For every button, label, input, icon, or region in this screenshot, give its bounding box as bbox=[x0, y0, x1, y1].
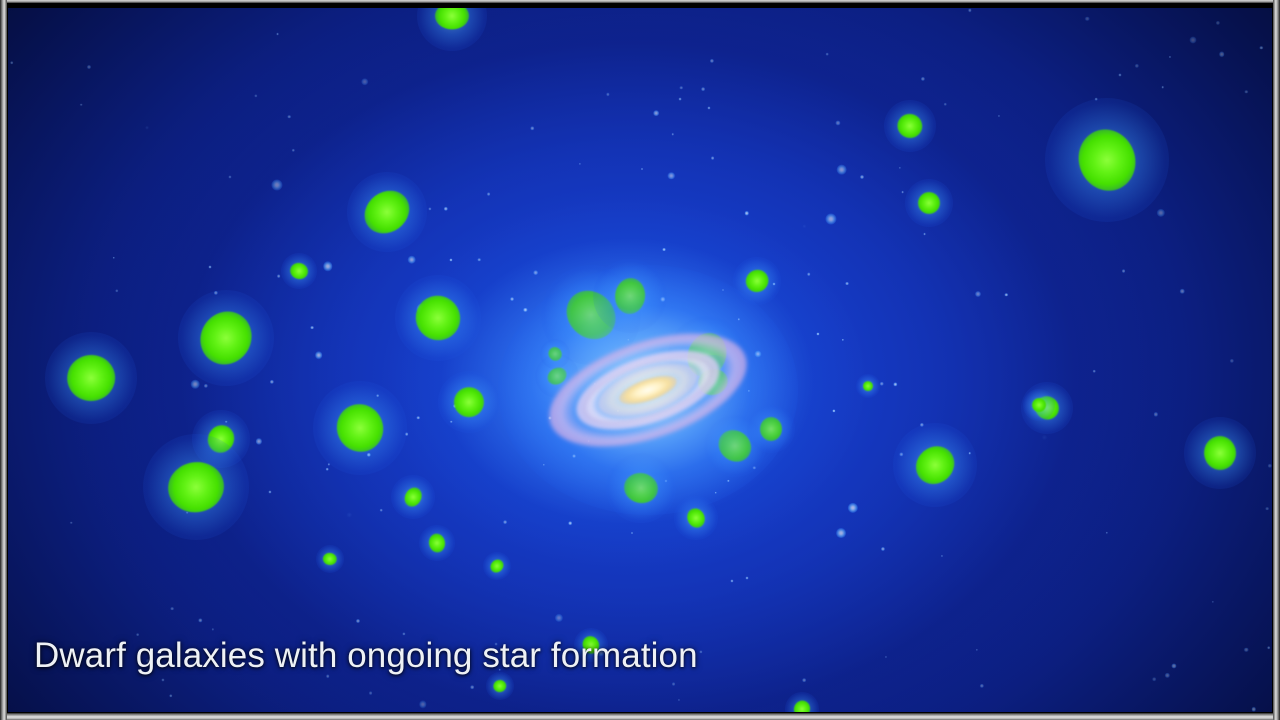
star bbox=[356, 619, 360, 623]
star bbox=[807, 272, 811, 276]
dwarf-galaxy bbox=[747, 405, 795, 453]
galaxy-halo-glow bbox=[498, 265, 798, 515]
star bbox=[380, 509, 383, 512]
star bbox=[1230, 358, 1234, 362]
star bbox=[225, 420, 228, 423]
star bbox=[627, 338, 629, 340]
star bbox=[450, 259, 453, 262]
dwarf-galaxy-halo bbox=[316, 545, 344, 573]
dwarf-galaxy-halo bbox=[483, 552, 511, 580]
dwarf-galaxy bbox=[1045, 98, 1169, 222]
star bbox=[186, 511, 189, 514]
star bbox=[199, 619, 202, 622]
dwarf-galaxy bbox=[316, 545, 344, 573]
dwarf-galaxy bbox=[884, 100, 936, 152]
star bbox=[968, 9, 971, 12]
star bbox=[1180, 289, 1185, 294]
star bbox=[653, 110, 659, 116]
star bbox=[1265, 507, 1269, 511]
dwarf-galaxy-halo bbox=[893, 423, 977, 507]
star bbox=[162, 678, 165, 681]
star bbox=[714, 491, 717, 494]
star bbox=[678, 97, 681, 100]
star bbox=[660, 297, 665, 302]
dwarf-galaxy-halo bbox=[785, 692, 819, 712]
dwarf-galaxy bbox=[45, 332, 137, 424]
star bbox=[271, 179, 282, 190]
dwarf-galaxy-core bbox=[1070, 121, 1145, 199]
star bbox=[209, 266, 212, 269]
star bbox=[366, 452, 370, 456]
galaxy-dust-lane bbox=[575, 342, 721, 437]
star bbox=[968, 452, 971, 455]
star bbox=[270, 380, 274, 384]
star bbox=[816, 332, 819, 335]
star bbox=[478, 258, 482, 262]
star bbox=[1044, 400, 1048, 404]
star bbox=[1005, 293, 1008, 296]
dwarf-galaxy bbox=[419, 525, 455, 561]
star bbox=[1153, 412, 1157, 416]
star bbox=[641, 168, 643, 170]
star bbox=[920, 423, 924, 427]
star bbox=[899, 166, 901, 168]
dwarf-galaxy-core bbox=[908, 438, 962, 492]
dwarf-galaxy-core bbox=[915, 189, 943, 217]
dwarf-galaxy-halo bbox=[606, 453, 676, 523]
star bbox=[1169, 56, 1171, 58]
star bbox=[1153, 677, 1157, 681]
star bbox=[1216, 21, 1220, 25]
dwarf-galaxy bbox=[668, 316, 746, 394]
dwarf-galaxy-core bbox=[407, 287, 470, 350]
frame-border-right bbox=[1273, 0, 1280, 720]
dwarf-galaxy-halo bbox=[486, 672, 514, 700]
star bbox=[884, 655, 886, 657]
dwarf-galaxy bbox=[1021, 382, 1073, 434]
dwarf-galaxy bbox=[395, 275, 481, 361]
dwarf-galaxy-halo bbox=[856, 374, 880, 398]
star bbox=[572, 454, 576, 458]
star bbox=[842, 339, 844, 341]
star bbox=[881, 547, 885, 551]
star bbox=[667, 172, 674, 179]
star bbox=[170, 607, 174, 611]
star bbox=[900, 453, 903, 456]
star bbox=[832, 409, 835, 412]
dwarf-galaxy-core bbox=[492, 679, 507, 694]
star bbox=[277, 274, 281, 278]
star bbox=[1161, 86, 1164, 89]
star bbox=[531, 126, 534, 129]
sky-noise-texture bbox=[8, 8, 1272, 712]
star bbox=[1118, 73, 1121, 76]
dwarf-galaxy-halo bbox=[733, 257, 781, 305]
star bbox=[579, 163, 581, 165]
star bbox=[1211, 601, 1213, 603]
star bbox=[835, 121, 840, 126]
dwarf-galaxy-halo bbox=[347, 172, 427, 252]
star bbox=[941, 555, 943, 557]
dwarf-galaxy-core bbox=[1029, 395, 1049, 415]
star bbox=[701, 87, 705, 91]
dwarf-galaxy-halo bbox=[905, 179, 953, 227]
dwarf-galaxy-halo bbox=[313, 381, 407, 475]
star bbox=[1157, 209, 1165, 217]
dwarf-galaxy bbox=[438, 371, 500, 433]
dwarf-galaxy-halo bbox=[668, 316, 746, 394]
dwarf-galaxy-core bbox=[1203, 435, 1237, 471]
star bbox=[879, 382, 884, 387]
star bbox=[113, 257, 116, 260]
star bbox=[848, 502, 858, 512]
star bbox=[710, 59, 714, 63]
star bbox=[453, 404, 457, 408]
star bbox=[419, 701, 426, 708]
dwarf-galaxy-halo bbox=[884, 100, 936, 152]
star bbox=[487, 192, 491, 196]
star bbox=[465, 394, 469, 398]
star bbox=[700, 650, 703, 653]
star bbox=[860, 175, 864, 179]
star bbox=[921, 77, 925, 81]
dwarf-galaxy-halo bbox=[45, 332, 137, 424]
dwarf-galaxy-halo bbox=[178, 290, 274, 386]
dwarf-galaxy-core bbox=[621, 470, 660, 506]
dwarf-galaxy-halo bbox=[1045, 98, 1169, 222]
star bbox=[998, 115, 1000, 117]
star bbox=[836, 528, 846, 538]
star bbox=[416, 416, 420, 420]
star bbox=[1165, 673, 1169, 677]
dwarf-galaxy-halo bbox=[540, 339, 570, 369]
dwarf-galaxy bbox=[606, 453, 676, 523]
star bbox=[255, 94, 258, 97]
star bbox=[616, 410, 619, 413]
star bbox=[641, 360, 644, 363]
dwarf-galaxy-halo bbox=[535, 354, 579, 398]
galaxy-mid-arm bbox=[566, 334, 729, 445]
star bbox=[555, 614, 563, 622]
dwarf-galaxy-core bbox=[695, 366, 731, 399]
star bbox=[710, 379, 712, 381]
star bbox=[753, 466, 756, 469]
dwarf-galaxy bbox=[192, 410, 250, 468]
dwarf-galaxy-core bbox=[488, 557, 506, 575]
star bbox=[944, 103, 947, 106]
star bbox=[10, 61, 14, 65]
star bbox=[1135, 64, 1139, 68]
dwarf-galaxy bbox=[313, 381, 407, 475]
dwarf-galaxy-core bbox=[1031, 392, 1064, 425]
star bbox=[70, 522, 73, 525]
dwarf-galaxy-core bbox=[863, 381, 873, 391]
dwarf-galaxy-core bbox=[288, 261, 310, 281]
dwarf-galaxy-halo bbox=[417, 8, 487, 51]
dwarf-galaxy-core bbox=[428, 532, 447, 553]
star bbox=[310, 326, 314, 330]
star bbox=[169, 694, 172, 697]
dwarf-galaxy-core bbox=[546, 344, 565, 363]
star bbox=[470, 685, 474, 689]
star bbox=[662, 248, 666, 252]
dwarf-galaxy bbox=[704, 415, 766, 477]
dwarf-galaxy bbox=[347, 172, 427, 252]
star bbox=[115, 289, 118, 292]
star bbox=[323, 261, 332, 270]
dwarf-galaxy-core bbox=[557, 281, 626, 350]
star bbox=[727, 479, 729, 481]
dwarf-galaxy-halo bbox=[395, 275, 481, 361]
star bbox=[315, 351, 323, 359]
star bbox=[826, 53, 829, 56]
star bbox=[770, 426, 775, 431]
star bbox=[722, 289, 724, 291]
star bbox=[542, 464, 544, 466]
star bbox=[80, 104, 83, 107]
dwarf-galaxy bbox=[535, 354, 579, 398]
star bbox=[444, 207, 448, 211]
dwarf-galaxy-halo bbox=[674, 496, 718, 540]
star bbox=[975, 291, 981, 297]
dwarf-galaxy-core bbox=[401, 484, 425, 509]
dwarf-galaxy bbox=[417, 8, 487, 51]
star bbox=[678, 699, 680, 701]
star bbox=[680, 86, 684, 90]
star bbox=[1172, 663, 1177, 668]
dwarf-galaxy bbox=[1184, 417, 1256, 489]
star bbox=[1190, 36, 1197, 43]
star bbox=[730, 579, 733, 582]
star bbox=[1244, 648, 1249, 653]
dwarf-galaxy-halo bbox=[1021, 382, 1073, 434]
dwarf-galaxy bbox=[486, 672, 514, 700]
dwarf-galaxy-halo bbox=[391, 475, 435, 519]
star bbox=[708, 106, 711, 109]
star bbox=[87, 65, 91, 69]
star bbox=[803, 678, 807, 682]
star bbox=[1106, 532, 1108, 534]
dwarf-galaxy-halo bbox=[1023, 389, 1055, 421]
star bbox=[631, 532, 633, 534]
star bbox=[1259, 46, 1262, 49]
dwarf-galaxy-core bbox=[203, 421, 239, 458]
dwarf-galaxy bbox=[905, 179, 953, 227]
dwarf-galaxy-core bbox=[190, 302, 261, 374]
star bbox=[292, 149, 294, 151]
star bbox=[256, 438, 262, 444]
star bbox=[1085, 16, 1090, 21]
star bbox=[894, 383, 897, 386]
dwarf-galaxy-core bbox=[544, 364, 569, 388]
star bbox=[229, 175, 232, 178]
star bbox=[376, 394, 380, 398]
star bbox=[672, 682, 676, 686]
star bbox=[276, 33, 279, 36]
dwarf-galaxy bbox=[281, 253, 317, 289]
dwarf-galaxy-core bbox=[451, 385, 486, 420]
star bbox=[738, 318, 740, 320]
star bbox=[836, 164, 847, 175]
dwarf-galaxy-core bbox=[895, 111, 926, 141]
star bbox=[212, 628, 214, 630]
dwarf-galaxy-halo bbox=[593, 259, 667, 333]
star bbox=[214, 290, 218, 294]
dwarf-galaxy bbox=[391, 475, 435, 519]
star bbox=[773, 283, 776, 286]
star bbox=[417, 303, 428, 314]
star bbox=[748, 390, 750, 392]
star bbox=[510, 297, 514, 301]
frame-border-top bbox=[0, 0, 1280, 3]
frame-border-left bbox=[0, 0, 7, 720]
star bbox=[326, 675, 330, 679]
dwarf-galaxy-halo bbox=[686, 355, 740, 409]
star bbox=[975, 649, 977, 651]
star bbox=[711, 156, 715, 160]
star bbox=[744, 211, 749, 216]
star bbox=[204, 384, 208, 388]
dwarf-galaxy-core bbox=[684, 505, 708, 530]
dwarf-galaxy-core bbox=[713, 424, 758, 468]
star bbox=[1095, 98, 1098, 101]
star bbox=[569, 522, 573, 526]
dwarf-galaxy-halo bbox=[1184, 417, 1256, 489]
star bbox=[980, 683, 984, 687]
frame-border-bottom bbox=[0, 713, 1280, 720]
dwarf-galaxy-halo bbox=[143, 434, 249, 540]
dwarf-galaxy-core bbox=[760, 417, 782, 441]
galaxy-inner-arm bbox=[592, 352, 705, 427]
dwarf-galaxy-halo bbox=[281, 253, 317, 289]
star bbox=[403, 632, 406, 635]
dwarf-galaxy bbox=[686, 355, 740, 409]
dwarf-galaxy-core bbox=[164, 457, 228, 516]
galaxy-core-bulge bbox=[616, 370, 680, 410]
star bbox=[671, 133, 674, 136]
dwarf-galaxy-core bbox=[613, 277, 647, 316]
star bbox=[287, 115, 291, 119]
star bbox=[593, 382, 596, 385]
star bbox=[825, 213, 836, 224]
star bbox=[326, 468, 329, 471]
star bbox=[548, 416, 552, 420]
star bbox=[407, 255, 416, 264]
dwarf-galaxy bbox=[893, 423, 977, 507]
dwarf-galaxy-core bbox=[791, 698, 812, 712]
star bbox=[369, 691, 373, 695]
dwarf-galaxy bbox=[483, 552, 511, 580]
star bbox=[1093, 370, 1096, 373]
star bbox=[268, 490, 271, 493]
star bbox=[1268, 464, 1272, 468]
star bbox=[636, 483, 642, 489]
dwarf-galaxy-halo bbox=[541, 265, 641, 365]
star bbox=[746, 577, 749, 580]
dwarf-galaxy-halo bbox=[704, 415, 766, 477]
star bbox=[361, 78, 369, 86]
galaxy-outer-arm bbox=[535, 311, 761, 469]
dwarf-galaxy-core bbox=[356, 182, 417, 242]
star bbox=[901, 191, 904, 194]
star bbox=[1251, 707, 1256, 712]
image-frame: Dwarf galaxies with ongoing star formati… bbox=[0, 0, 1280, 720]
star bbox=[931, 458, 936, 463]
star bbox=[533, 270, 539, 276]
star bbox=[503, 520, 507, 524]
dwarf-galaxy bbox=[541, 265, 641, 365]
dwarf-galaxy-core bbox=[741, 265, 773, 296]
dwarf-galaxy-halo bbox=[438, 371, 500, 433]
star bbox=[754, 350, 761, 357]
dwarf-galaxy-core bbox=[435, 8, 469, 30]
dwarf-galaxy bbox=[856, 374, 880, 398]
star bbox=[450, 421, 453, 424]
star bbox=[405, 432, 409, 436]
dwarf-galaxy bbox=[143, 434, 249, 540]
dwarf-galaxy-core bbox=[681, 327, 733, 383]
dwarf-galaxy-halo bbox=[192, 410, 250, 468]
star bbox=[327, 463, 329, 465]
dwarf-galaxy bbox=[540, 339, 570, 369]
star bbox=[523, 308, 527, 312]
dwarf-galaxy bbox=[674, 496, 718, 540]
dwarf-galaxy-halo bbox=[747, 405, 795, 453]
dwarf-galaxy-core bbox=[65, 353, 117, 403]
central-spiral-galaxy bbox=[478, 280, 818, 500]
star bbox=[191, 380, 200, 389]
star bbox=[587, 440, 590, 443]
dwarf-galaxy bbox=[1023, 389, 1055, 421]
star bbox=[1245, 90, 1248, 93]
star bbox=[664, 479, 667, 482]
star bbox=[923, 233, 926, 236]
dwarf-galaxy bbox=[178, 290, 274, 386]
starfield-sky bbox=[8, 8, 1272, 712]
caption-text: Dwarf galaxies with ongoing star formati… bbox=[34, 638, 698, 673]
dwarf-galaxy bbox=[733, 257, 781, 305]
dwarf-galaxy-core bbox=[329, 396, 391, 459]
dwarf-galaxy-halo bbox=[419, 525, 455, 561]
star bbox=[429, 207, 432, 210]
star bbox=[1122, 269, 1126, 273]
star bbox=[1267, 646, 1271, 650]
dwarf-galaxy bbox=[593, 259, 667, 333]
dwarf-galaxy bbox=[785, 692, 819, 712]
star bbox=[845, 282, 849, 286]
dwarf-galaxy-core bbox=[323, 552, 338, 566]
star bbox=[1219, 51, 1225, 57]
star bbox=[607, 93, 610, 96]
